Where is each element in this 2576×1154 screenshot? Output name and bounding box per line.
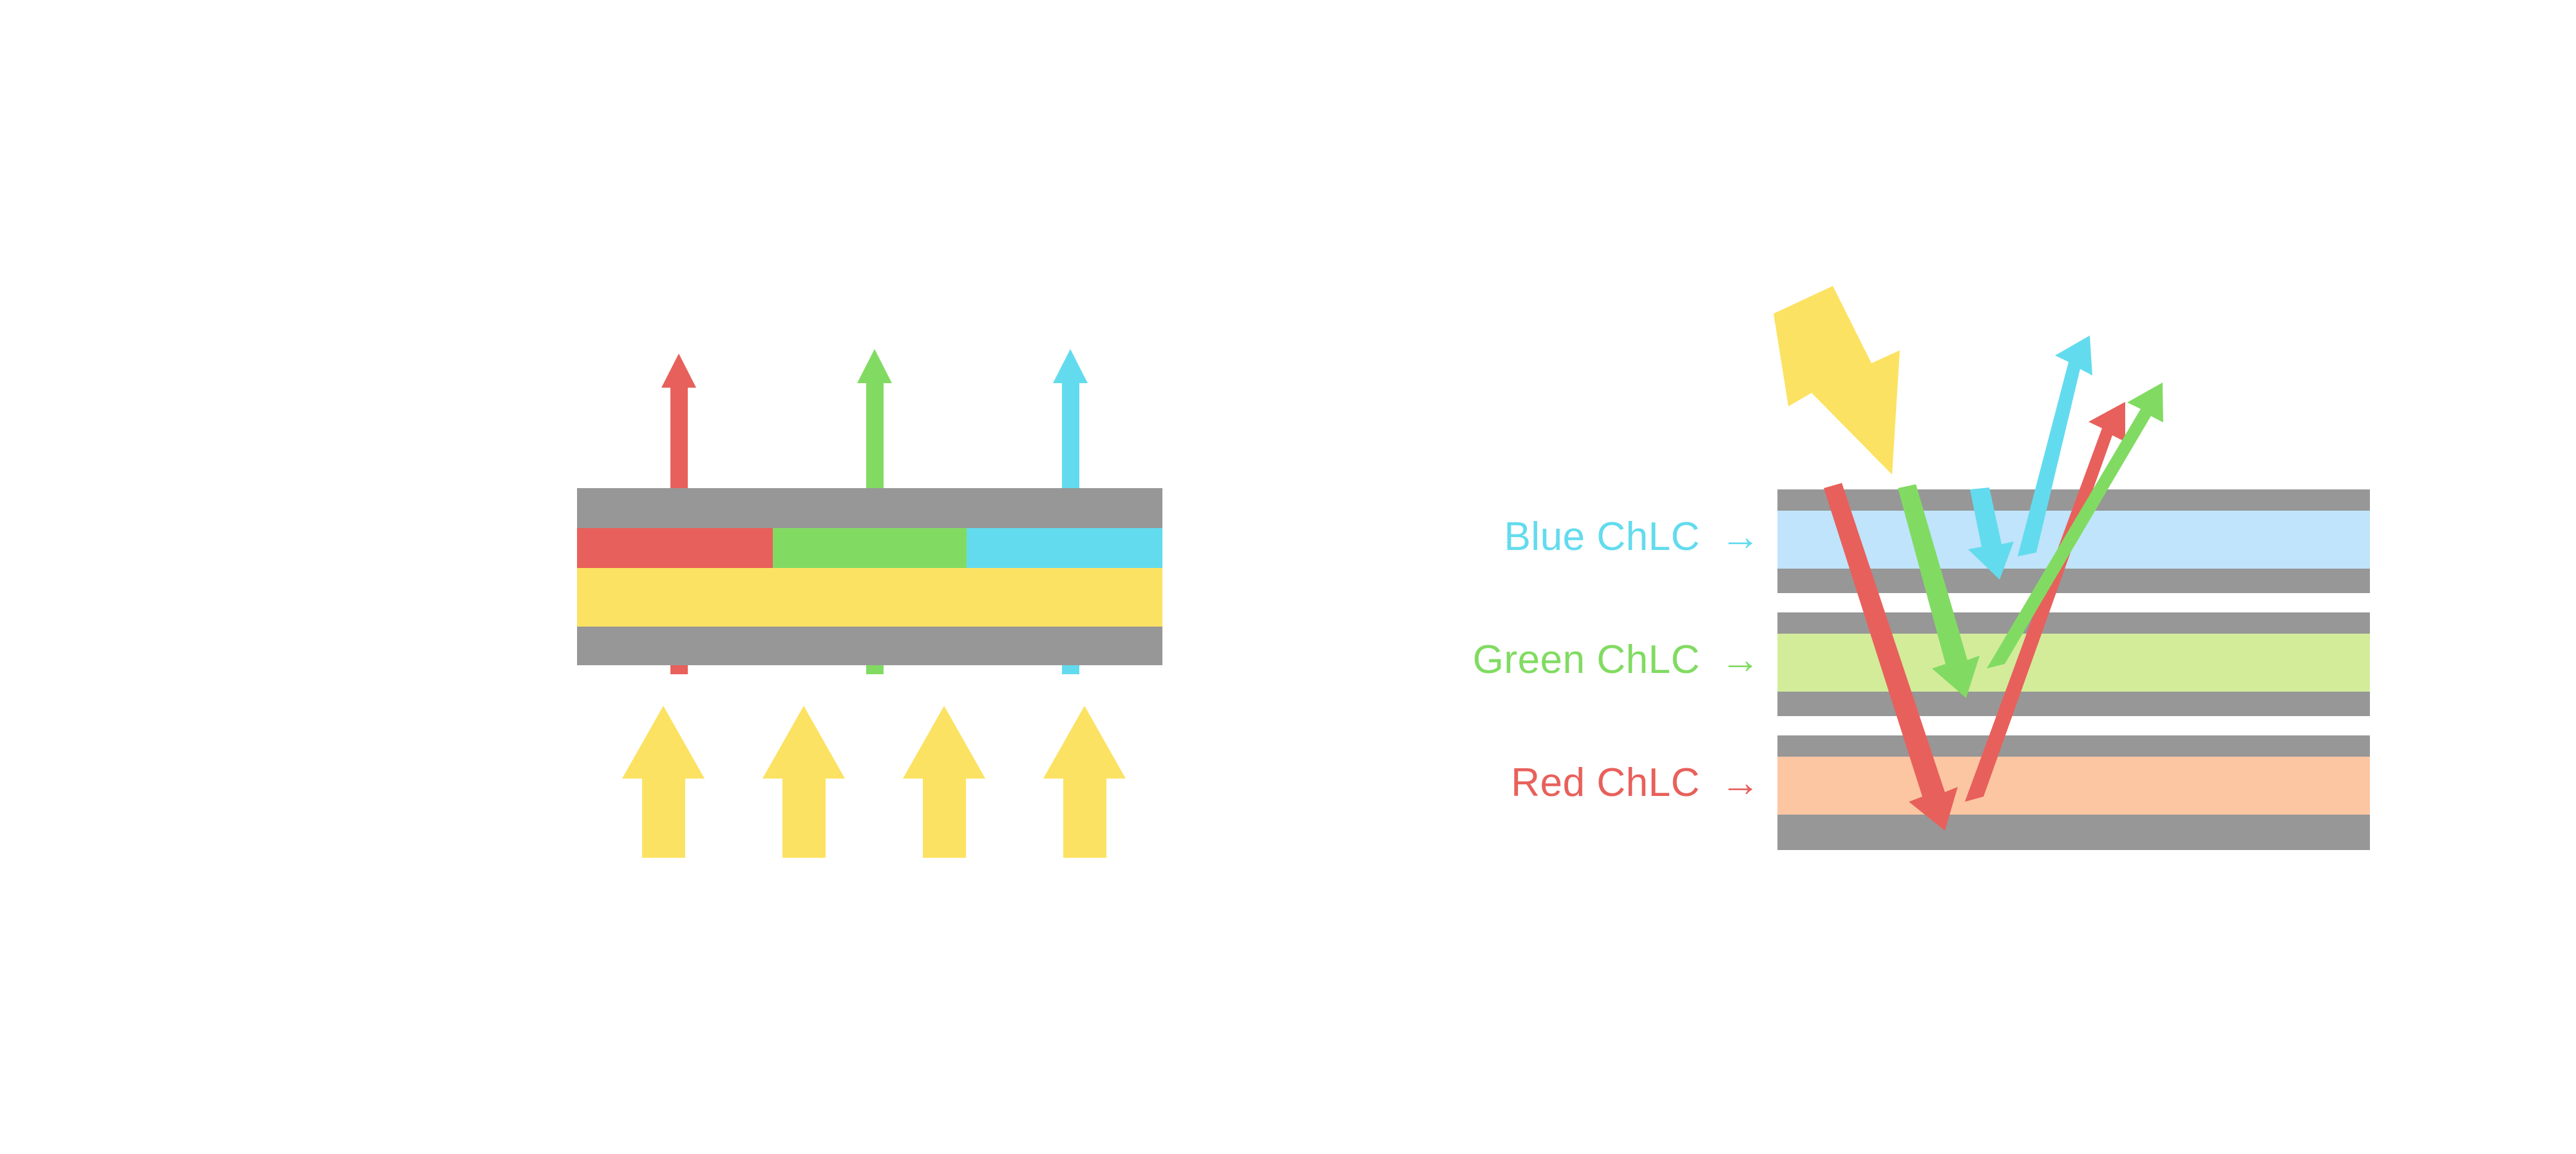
blue-filter-band (967, 528, 1162, 568)
red-cell-bottom-electrode (1777, 815, 2370, 850)
backlight-layer (577, 568, 1162, 627)
red-filter-band (577, 528, 773, 568)
right-panel-group (1774, 286, 2370, 850)
incident-white-light-arrow (1774, 286, 1900, 475)
red-chlc-label-text: Red ChLC (1511, 761, 1700, 805)
figure-root: Blue ChLC → Green ChLC → Red ChLC → (0, 0, 2576, 1154)
backlight-arrow (1043, 706, 1126, 858)
blue-chlc-pointer-icon: → (1712, 515, 1761, 559)
green-chlc-layer (1777, 634, 2370, 692)
red-chlc-layer (1777, 757, 2370, 815)
red-chlc-label: Red ChLC → (1432, 760, 1761, 806)
green-filter-band (773, 528, 967, 568)
backlight-arrow (622, 706, 705, 858)
left-top-electrode (577, 488, 1162, 528)
green-chlc-pointer-icon: → (1712, 638, 1761, 682)
diagram-canvas (0, 0, 2576, 1154)
green-chlc-label-text: Green ChLC (1473, 638, 1700, 682)
left-bottom-electrode (577, 627, 1162, 665)
left-panel-group (577, 349, 1162, 858)
blue-chlc-label: Blue ChLC → (1432, 514, 1761, 560)
green-chlc-label: Green ChLC → (1394, 637, 1761, 683)
green-cell-bottom-electrode (1777, 692, 2370, 716)
red-cell-top-electrode (1777, 735, 2370, 757)
backlight-arrow (903, 706, 985, 858)
blue-chlc-label-text: Blue ChLC (1504, 515, 1700, 559)
backlight-arrow (762, 706, 845, 858)
red-chlc-pointer-icon: → (1712, 761, 1761, 805)
